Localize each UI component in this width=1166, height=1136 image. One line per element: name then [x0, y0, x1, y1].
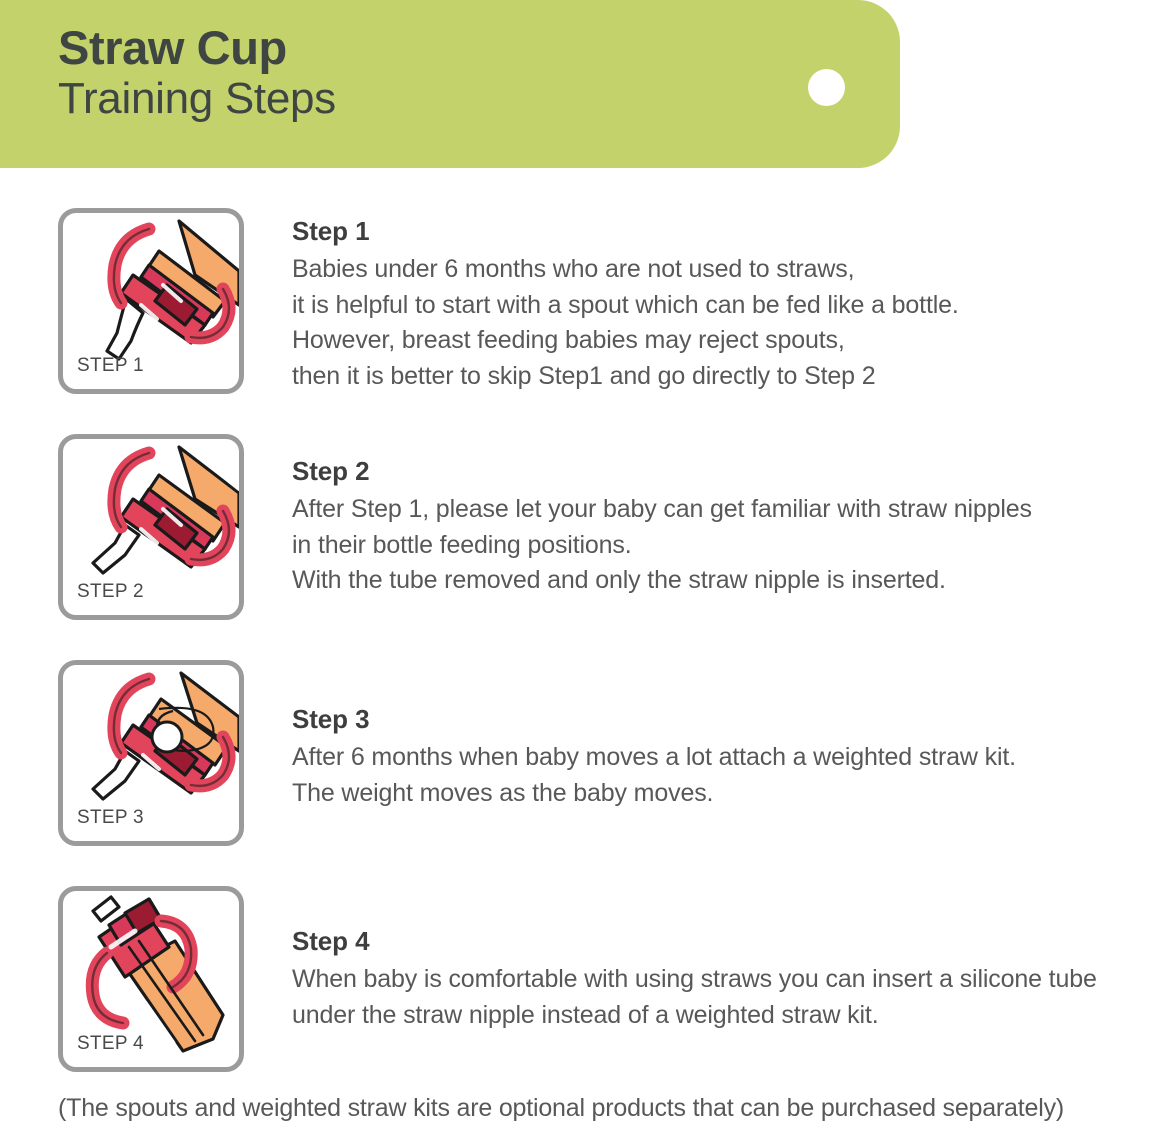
title-main: Straw Cup: [58, 24, 336, 71]
step-body-line: The weight moves as the baby moves.: [292, 776, 1152, 812]
step-text-1: Step 1 Babies under 6 months who are not…: [292, 216, 1152, 394]
step-text-4: Step 4 When baby is comfortable with usi…: [292, 926, 1152, 1033]
step-icon-box-2: STEP 2: [58, 434, 244, 620]
step-icon-caption: STEP 4: [77, 1033, 144, 1055]
step-text-3: Step 3 After 6 months when baby moves a …: [292, 704, 1152, 811]
punch-hole-circle-icon: [808, 69, 845, 106]
step-heading: Step 4: [292, 926, 1152, 957]
step-heading: Step 2: [292, 456, 1152, 487]
step-body-line: under the straw nipple instead of a weig…: [292, 998, 1152, 1034]
step-body-line: With the tube removed and only the straw…: [292, 563, 1152, 599]
step-body-line: When baby is comfortable with using stra…: [292, 962, 1152, 998]
step-heading: Step 3: [292, 704, 1152, 735]
step-icon-box-3: STEP 3: [58, 660, 244, 846]
step-icon-caption: STEP 2: [77, 581, 144, 603]
step-heading: Step 1: [292, 216, 1152, 247]
step-body-line: it is helpful to start with a spout whic…: [292, 288, 1152, 324]
step-icon-box-4: STEP 4: [58, 886, 244, 1072]
step-body-line: Babies under 6 months who are not used t…: [292, 252, 1152, 288]
step-body-line: After Step 1, please let your baby can g…: [292, 492, 1152, 528]
step-icon-caption: STEP 1: [77, 355, 144, 377]
step-icon-caption: STEP 3: [77, 807, 144, 829]
step-text-2: Step 2 After Step 1, please let your bab…: [292, 456, 1152, 599]
title-subtitle: Training Steps: [58, 77, 336, 121]
step-body-line: After 6 months when baby moves a lot att…: [292, 740, 1152, 776]
step-body-line: in their bottle feeding positions.: [292, 528, 1152, 564]
page-title: Straw Cup Training Steps: [58, 24, 336, 121]
header-banner: Straw Cup Training Steps: [0, 0, 900, 168]
step-body-line: then it is better to skip Step1 and go d…: [292, 359, 1152, 395]
step-icon-box-1: STEP 1: [58, 208, 244, 394]
footer-note: (The spouts and weighted straw kits are …: [58, 1094, 1064, 1123]
step-body-line: However, breast feeding babies may rejec…: [292, 323, 1152, 359]
